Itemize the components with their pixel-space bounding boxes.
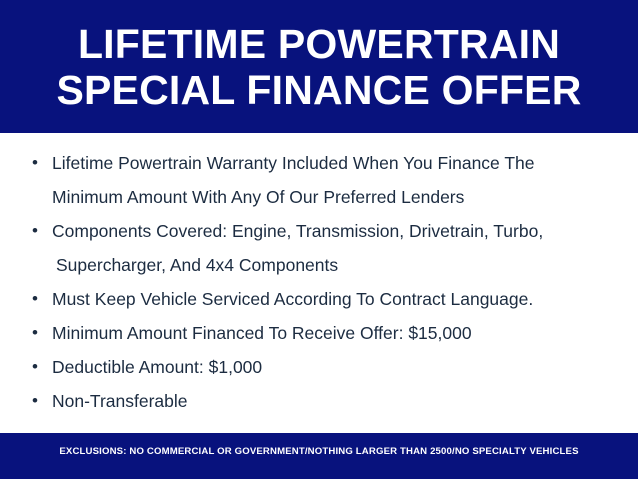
bullet-dot-icon: • — [32, 316, 42, 350]
list-item-text: Deductible Amount: $1,000 — [18, 350, 262, 384]
list-item: • Must Keep Vehicle Serviced According T… — [18, 282, 620, 316]
list-item-text: Non-Transferable — [18, 384, 188, 418]
list-item-text: Minimum Amount With Any Of Our Preferred… — [18, 180, 464, 214]
list-item-text: Lifetime Powertrain Warranty Included Wh… — [18, 146, 534, 180]
offer-details-body: • Lifetime Powertrain Warranty Included … — [0, 133, 638, 433]
bullet-dot-icon: • — [32, 282, 42, 316]
page-title-line-1: LIFETIME POWERTRAIN — [78, 21, 560, 67]
list-item-continuation: Supercharger, And 4x4 Components — [18, 248, 620, 282]
list-item-text: Must Keep Vehicle Serviced According To … — [18, 282, 533, 316]
promo-slide: LIFETIME POWERTRAIN SPECIAL FINANCE OFFE… — [0, 0, 638, 479]
header-banner: LIFETIME POWERTRAIN SPECIAL FINANCE OFFE… — [0, 0, 638, 133]
list-item-text: Minimum Amount Financed To Receive Offer… — [18, 316, 472, 350]
list-item: • Lifetime Powertrain Warranty Included … — [18, 146, 620, 180]
list-item: • Deductible Amount: $1,000 — [18, 350, 620, 384]
bullet-dot-icon: • — [32, 384, 42, 418]
offer-bullet-list: • Lifetime Powertrain Warranty Included … — [18, 146, 620, 418]
list-item-continuation: Minimum Amount With Any Of Our Preferred… — [18, 180, 620, 214]
list-item: • Components Covered: Engine, Transmissi… — [18, 214, 620, 248]
footer-banner: EXCLUSIONS: NO COMMERCIAL OR GOVERNMENT/… — [0, 433, 638, 479]
bullet-dot-icon: • — [32, 350, 42, 384]
list-item-text: Supercharger, And 4x4 Components — [18, 248, 338, 282]
list-item: • Minimum Amount Financed To Receive Off… — [18, 316, 620, 350]
list-item-text: Components Covered: Engine, Transmission… — [18, 214, 543, 248]
bullet-dot-icon: • — [32, 214, 42, 248]
exclusions-disclaimer: EXCLUSIONS: NO COMMERCIAL OR GOVERNMENT/… — [59, 446, 578, 457]
list-item: • Non-Transferable — [18, 384, 620, 418]
page-title-line-2: SPECIAL FINANCE OFFER — [56, 67, 581, 113]
bullet-dot-icon: • — [32, 146, 42, 180]
